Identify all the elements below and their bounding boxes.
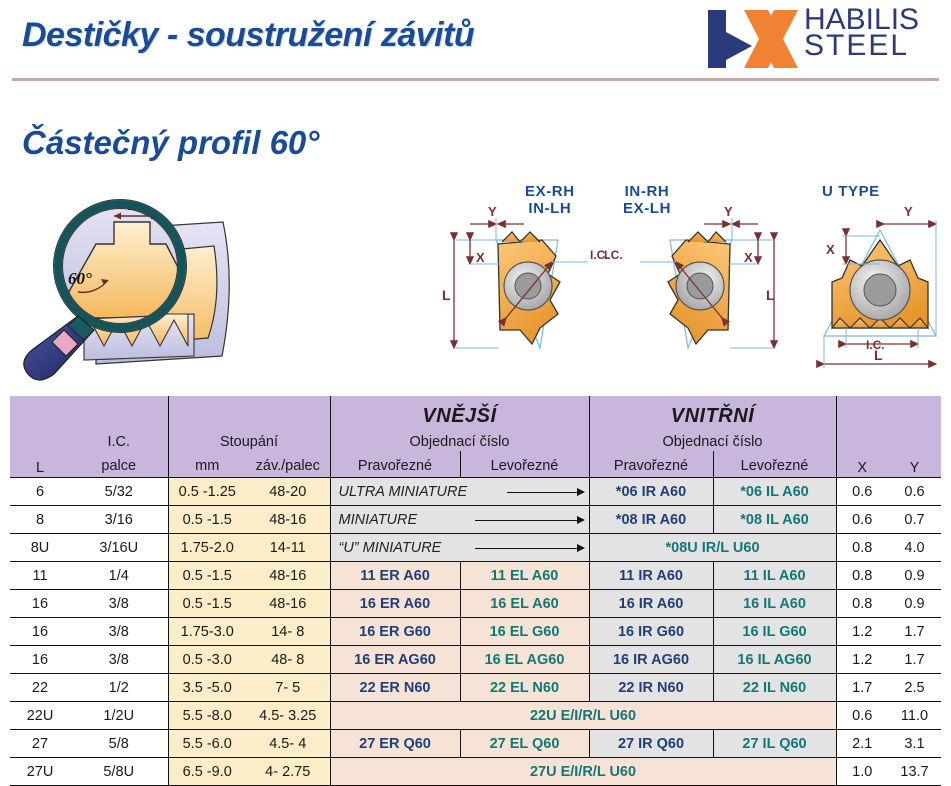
- cell-series-note: MINIATURE: [330, 506, 589, 534]
- cell-pitch-tpi: 14- 8: [246, 618, 330, 646]
- table-row: 65/320.5 -1.2548-20ULTRA MINIATURE*06 IR…: [10, 478, 941, 506]
- cell-x: 0.6: [836, 506, 888, 534]
- cell-pitch-tpi: 7- 5: [246, 674, 330, 702]
- habilis-steel-logo-mark: [706, 8, 802, 70]
- cell-l: 16: [10, 646, 70, 674]
- cell-pitch-tpi: 48-16: [246, 590, 330, 618]
- cell-x: 1.0: [836, 758, 888, 786]
- cell-series-note: “U” MINIATURE: [330, 534, 589, 562]
- cell-external-right: 11 ER A60: [330, 562, 460, 590]
- cell-internal-right: 11 IR A60: [589, 562, 713, 590]
- cell-y: 1.7: [888, 618, 941, 646]
- cell-series-note: ULTRA MINIATURE: [330, 478, 589, 506]
- cell-x: 1.2: [836, 618, 888, 646]
- cell-external-right: 16 ER G60: [330, 618, 460, 646]
- cell-external-left: 16 EL A60: [460, 590, 589, 618]
- header-ext-right-hand: Pravořezné: [330, 451, 460, 478]
- insert-label-line1: U TYPE: [822, 183, 880, 200]
- cell-l: 8: [10, 506, 70, 534]
- cell-pitch-mm: 0.5 -1.5: [168, 590, 246, 618]
- cell-l: 16: [10, 590, 70, 618]
- insert-label-line2: EX-LH: [623, 200, 671, 217]
- note-arrow-line: [507, 492, 583, 493]
- cell-internal-right: 22 IR N60: [589, 674, 713, 702]
- y-label: Y: [488, 204, 497, 219]
- header-divider: [12, 78, 939, 81]
- logo-line-2: STEEL: [804, 33, 940, 59]
- cell-internal-merged: *08U IR/L U60: [589, 534, 836, 562]
- cell-pitch-tpi: 48- 8: [246, 646, 330, 674]
- table-row: 163/81.75-3.014- 816 ER G6016 EL G6016 I…: [10, 618, 941, 646]
- header-pitch-title: Stoupání: [168, 429, 330, 451]
- insert-label-in-rh-ex-lh: IN-RH EX-LH: [623, 184, 671, 218]
- cell-ic: 1/2: [70, 674, 168, 702]
- page-title: Destičky - soustružení závitů: [22, 16, 474, 55]
- cell-internal-left: 11 IL A60: [713, 562, 836, 590]
- cell-pitch-mm: 0.5 -3.0: [168, 646, 246, 674]
- header-ic: I.C.: [70, 429, 168, 451]
- note-arrow-head: [577, 544, 585, 552]
- spec-table: VNĚJŠÍ VNITŘNÍ L I.C. Stoupání Objednací…: [10, 396, 941, 786]
- cell-l: 16: [10, 618, 70, 646]
- cell-external-right: 16 ER A60: [330, 590, 460, 618]
- insert-drawing-u-type: X Y I.C. L: [824, 204, 936, 368]
- cell-internal-left: 16 IL G60: [713, 618, 836, 646]
- x-label-2: X: [744, 250, 753, 265]
- header-spacer-pitch: [168, 396, 330, 429]
- cell-x: 0.8: [836, 534, 888, 562]
- table-header: VNĚJŠÍ VNITŘNÍ L I.C. Stoupání Objednací…: [10, 396, 941, 478]
- table-row: 83/160.5 -1.548-16MINIATURE*08 IR A60*08…: [10, 506, 941, 534]
- cell-internal-left: *08 IL A60: [713, 506, 836, 534]
- cell-pitch-tpi: 48-16: [246, 562, 330, 590]
- cell-internal-left: *06 IL A60: [713, 478, 836, 506]
- header-y: Y: [888, 429, 941, 478]
- cell-pitch-mm: 3.5 -5.0: [168, 674, 246, 702]
- insert-drawing-2: [640, 218, 774, 348]
- cell-internal-left: 16 IL A60: [713, 590, 836, 618]
- cell-l: 6: [10, 478, 70, 506]
- page-header: Destičky - soustružení závitů HABILIS ST…: [0, 0, 951, 80]
- table-row: 8U3/16U1.75-2.014-11“U” MINIATURE*08U IR…: [10, 534, 941, 562]
- x-label: X: [476, 250, 485, 265]
- insert-label-u-type: U TYPE: [822, 184, 880, 201]
- cell-y: 0.7: [888, 506, 941, 534]
- table-row: 163/80.5 -3.048- 816 ER AG6016 EL AG6016…: [10, 646, 941, 674]
- header-ext-left-hand: Levořezné: [460, 451, 589, 478]
- cell-l: 8U: [10, 534, 70, 562]
- table-row: 275/85.5 -6.04.5- 427 ER Q6027 EL Q6027 …: [10, 730, 941, 758]
- cell-external-right: 27 ER Q60: [330, 730, 460, 758]
- table-row: 22U1/2U5.5 -8.04.5- 3.2522U E/I/R/L U600…: [10, 702, 941, 730]
- y-label-u: Y: [904, 204, 913, 219]
- cell-order-merged: 22U E/I/R/L U60: [330, 702, 836, 730]
- cell-internal-left: 27 IL Q60: [713, 730, 836, 758]
- series-note-label: “U” MINIATURE: [339, 540, 442, 556]
- cell-internal-right: 16 IR G60: [589, 618, 713, 646]
- cell-pitch-mm: 0.5 -1.5: [168, 562, 246, 590]
- note-arrow-head: [577, 488, 585, 496]
- header-pitch-mm: mm: [168, 451, 246, 478]
- cell-y: 11.0: [888, 702, 941, 730]
- cell-pitch-mm: 0.5 -1.25: [168, 478, 246, 506]
- cell-ic: 3/16: [70, 506, 168, 534]
- cell-internal-left: 22 IL N60: [713, 674, 836, 702]
- header-external-sub: Objednací číslo: [330, 429, 589, 451]
- insert-label-line1: IN-RH: [625, 183, 670, 200]
- cell-pitch-tpi: 48-20: [246, 478, 330, 506]
- header-external-title: VNĚJŠÍ: [330, 396, 589, 429]
- cell-pitch-tpi: 14-11: [246, 534, 330, 562]
- header-internal-title: VNITŘNÍ: [589, 396, 836, 429]
- section-subtitle: Částečný profil 60°: [22, 124, 319, 162]
- cell-external-left: 27 EL Q60: [460, 730, 589, 758]
- cell-external-right: 16 ER AG60: [330, 646, 460, 674]
- cell-ic: 3/16U: [70, 534, 168, 562]
- cell-pitch-mm: 1.75-2.0: [168, 534, 246, 562]
- cell-x: 0.8: [836, 562, 888, 590]
- note-arrow-line: [475, 520, 583, 521]
- cell-ic: 1/2U: [70, 702, 168, 730]
- header-pitch-tpi: záv./palec: [246, 451, 330, 478]
- cell-ic: 5/8U: [70, 758, 168, 786]
- header-l: L: [10, 429, 70, 478]
- header-int-left-hand: Levořezné: [713, 451, 836, 478]
- cell-y: 0.6: [888, 478, 941, 506]
- note-arrow-line: [475, 548, 583, 549]
- header-spacer-l: [10, 396, 70, 429]
- cell-pitch-mm: 5.5 -6.0: [168, 730, 246, 758]
- ic-label-2: I.C.: [604, 248, 623, 262]
- table-row: 221/23.5 -5.07- 522 ER N6022 EL N6022 IR…: [10, 674, 941, 702]
- insert-label-line2: IN-LH: [528, 200, 571, 217]
- brand-logo: HABILIS STEEL: [706, 6, 938, 74]
- cell-l: 22: [10, 674, 70, 702]
- l-label-2: L: [766, 287, 775, 303]
- insert-drawing-1: I.C. L X Y: [442, 204, 609, 348]
- cell-internal-right: 16 IR A60: [589, 590, 713, 618]
- header-spacer-ic: [70, 396, 168, 429]
- x-label-u: X: [826, 242, 835, 257]
- table-row: 111/40.5 -1.548-1611 ER A6011 EL A6011 I…: [10, 562, 941, 590]
- l-label-u: L: [874, 347, 883, 363]
- header-internal-sub: Objednací číslo: [589, 429, 836, 451]
- cell-pitch-mm: 6.5 -9.0: [168, 758, 246, 786]
- header-int-right-hand: Pravořezné: [589, 451, 713, 478]
- insert-geometry-diagrams: EX-RH IN-LH IN-RH EX-LH U TYPE: [428, 178, 948, 393]
- cell-ic: 3/8: [70, 618, 168, 646]
- thread-profile-magnifier-illustration: P 60°: [8, 188, 248, 388]
- cell-l: 27U: [10, 758, 70, 786]
- insert-diagram-svg: I.C. L X Y: [428, 178, 948, 393]
- cell-ic: 5/32: [70, 478, 168, 506]
- note-arrow-head: [577, 516, 585, 524]
- cell-x: 1.2: [836, 646, 888, 674]
- cell-external-right: 22 ER N60: [330, 674, 460, 702]
- cell-pitch-tpi: 4.5- 3.25: [246, 702, 330, 730]
- series-note-label: ULTRA MINIATURE: [339, 484, 468, 500]
- cell-y: 3.1: [888, 730, 941, 758]
- insert-label-line1: EX-RH: [525, 183, 575, 200]
- cell-internal-right: *08 IR A60: [589, 506, 713, 534]
- illustration-area: P 60° EX-RH IN-LH IN-RH EX-LH U TYPE: [0, 178, 951, 393]
- l-label: L: [442, 287, 451, 303]
- cell-y: 0.9: [888, 562, 941, 590]
- cell-l: 22U: [10, 702, 70, 730]
- cell-x: 1.7: [836, 674, 888, 702]
- cell-y: 2.5: [888, 674, 941, 702]
- cell-pitch-mm: 1.75-3.0: [168, 618, 246, 646]
- cell-y: 1.7: [888, 646, 941, 674]
- header-ic-unit: palce: [70, 451, 168, 478]
- cell-internal-right: *06 IR A60: [589, 478, 713, 506]
- cell-l: 11: [10, 562, 70, 590]
- cell-l: 27: [10, 730, 70, 758]
- cell-pitch-mm: 0.5 -1.5: [168, 506, 246, 534]
- cell-pitch-mm: 5.5 -8.0: [168, 702, 246, 730]
- cell-external-left: 16 EL G60: [460, 618, 589, 646]
- cell-x: 0.6: [836, 478, 888, 506]
- insert-label-ex-rh-in-lh: EX-RH IN-LH: [525, 184, 575, 218]
- cell-pitch-tpi: 4- 2.75: [246, 758, 330, 786]
- cell-external-left: 11 EL A60: [460, 562, 589, 590]
- cell-y: 4.0: [888, 534, 941, 562]
- series-note-label: MINIATURE: [339, 512, 418, 528]
- cell-y: 13.7: [888, 758, 941, 786]
- cell-ic: 3/8: [70, 590, 168, 618]
- cell-external-left: 16 EL AG60: [460, 646, 589, 674]
- cell-x: 0.6: [836, 702, 888, 730]
- logo-wordmark: HABILIS STEEL: [804, 7, 940, 73]
- cell-internal-left: 16 IL AG60: [713, 646, 836, 674]
- cell-pitch-tpi: 4.5- 4: [246, 730, 330, 758]
- table-row: 163/80.5 -1.548-1616 ER A6016 EL A6016 I…: [10, 590, 941, 618]
- table-row: 27U5/8U6.5 -9.04- 2.7527U E/I/R/L U601.0…: [10, 758, 941, 786]
- cell-external-left: 22 EL N60: [460, 674, 589, 702]
- cell-order-merged: 27U E/I/R/L U60: [330, 758, 836, 786]
- cell-y: 0.9: [888, 590, 941, 618]
- header-x: X: [836, 429, 888, 478]
- cell-x: 0.8: [836, 590, 888, 618]
- y-label-2: Y: [724, 204, 733, 219]
- cell-pitch-tpi: 48-16: [246, 506, 330, 534]
- table-body: 65/320.5 -1.2548-20ULTRA MINIATURE*06 IR…: [10, 478, 941, 786]
- angle-label: 60°: [68, 269, 92, 288]
- cell-ic: 5/8: [70, 730, 168, 758]
- cell-internal-right: 27 IR Q60: [589, 730, 713, 758]
- cell-x: 2.1: [836, 730, 888, 758]
- cell-ic: 3/8: [70, 646, 168, 674]
- insert-specification-table: VNĚJŠÍ VNITŘNÍ L I.C. Stoupání Objednací…: [10, 396, 941, 786]
- cell-internal-right: 16 IR AG60: [589, 646, 713, 674]
- header-spacer-xy: [836, 396, 941, 429]
- cell-ic: 1/4: [70, 562, 168, 590]
